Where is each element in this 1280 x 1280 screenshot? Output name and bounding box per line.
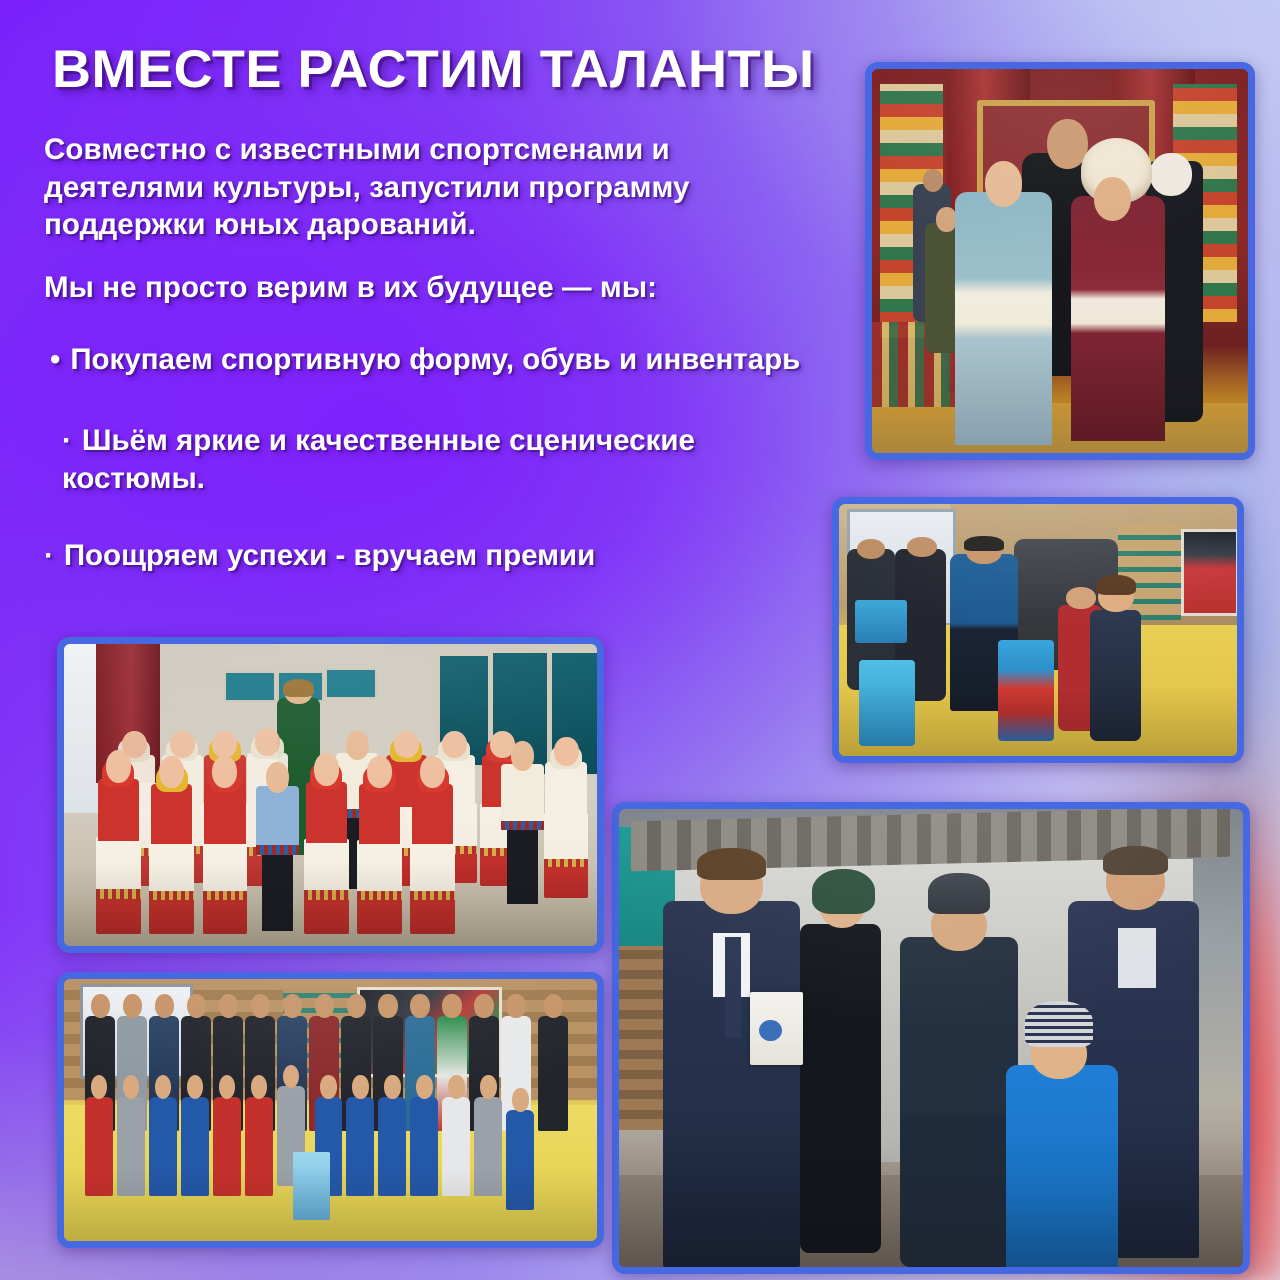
list-item-label: Шьём яркие и качественные сценические ко… [62,424,695,494]
list-item: •Покупаем спортивную форму, обувь и инве… [44,341,834,378]
list-item-label: Поощряем успехи - вручаем премии [64,539,595,572]
photo-wrestling-team [57,972,604,1248]
list-item-label: Покупаем спортивную форму, обувь и инвен… [70,343,800,376]
bullet-marker-icon: · [62,424,72,457]
list-item: ·Шьём яркие и качественные сценические к… [44,422,834,497]
text-column: ВМЕСТЕ РАСТИМ ТАЛАНТЫ Совместно с извест… [44,42,834,575]
bullet-marker-icon: · [44,539,54,572]
lead-in-paragraph: Мы не просто верим в их будущее — мы: [44,269,834,306]
photo-gift-handout [832,497,1244,763]
benefits-list: •Покупаем спортивную форму, обувь и инве… [44,341,834,575]
poster-canvas: ВМЕСТЕ РАСТИМ ТАЛАНТЫ Совместно с извест… [0,0,1280,1280]
page-title: ВМЕСТЕ РАСТИМ ТАЛАНТЫ [52,42,850,97]
list-item: ·Поощряем успехи - вручаем премии [44,537,834,574]
bullet-marker-icon: • [50,343,60,376]
intro-paragraph: Совместно с известными спортсменами и де… [44,131,834,243]
photo-certificate-presentation [612,802,1250,1274]
photo-traditional-costumes [865,62,1255,460]
photo-folk-ensemble [57,637,604,953]
